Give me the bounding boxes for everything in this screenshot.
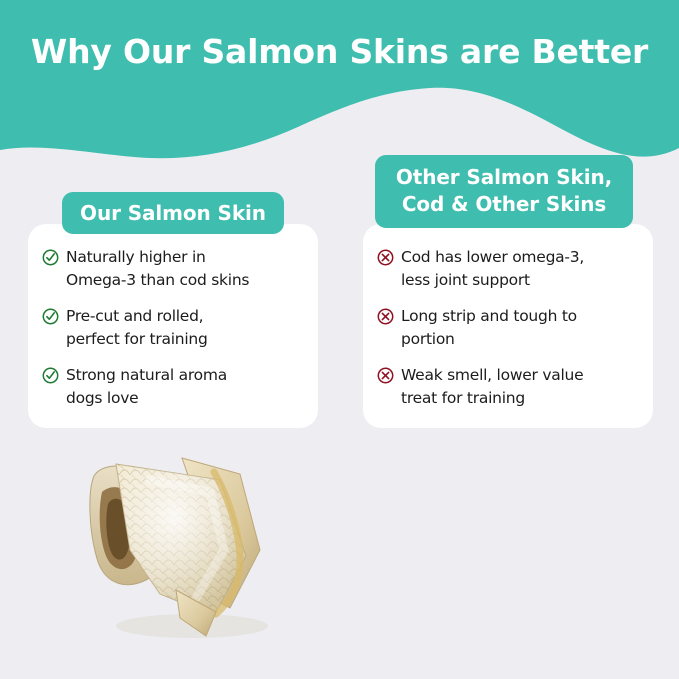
text-line: Strong natural aroma [66,366,227,384]
column-our-salmon-skin: Our Salmon Skin Naturally higher in [22,0,322,679]
text-line: perfect for training [66,330,208,348]
rolled-salmon-skin-photo [64,430,314,655]
text-line: Naturally higher in [66,248,206,266]
benefit-list-cons: Cod has lower omega-3, less joint suppor… [377,246,639,410]
badge-line: Our Salmon Skin [62,192,284,234]
check-circle-icon [42,367,59,384]
list-item: Naturally higher in Omega-3 than cod ski… [42,246,304,292]
text-line: less joint support [401,271,530,289]
list-item-text: Long strip and tough to portion [401,305,577,351]
column-other-skins: Other Salmon Skin, Cod & Other Skins Co [357,0,657,679]
cross-circle-icon [377,367,394,384]
list-item-text: Pre-cut and rolled, perfect for training [66,305,208,351]
cross-circle-icon [377,308,394,325]
comparison-infographic: Why Our Salmon Skins are Better Our Salm… [0,0,679,679]
text-line: dogs love [66,389,138,407]
card-other-skins: Cod has lower omega-3, less joint suppor… [363,224,653,428]
badge-our-salmon-skin: Our Salmon Skin [62,192,284,234]
text-line: Pre-cut and rolled, [66,307,203,325]
card-our-salmon-skin: Naturally higher in Omega-3 than cod ski… [28,224,318,428]
list-item: Strong natural aroma dogs love [42,364,304,410]
text-line: portion [401,330,455,348]
cross-circle-icon [377,249,394,266]
list-item-text: Cod has lower omega-3, less joint suppor… [401,246,584,292]
list-item-text: Strong natural aroma dogs love [66,364,227,410]
list-item: Pre-cut and rolled, perfect for training [42,305,304,351]
list-item: Long strip and tough to portion [377,305,639,351]
list-item: Weak smell, lower value treat for traini… [377,364,639,410]
badge-line: Cod & Other Skins [375,191,633,218]
benefit-list-pros: Naturally higher in Omega-3 than cod ski… [42,246,304,410]
text-line: Weak smell, lower value [401,366,583,384]
check-circle-icon [42,249,59,266]
text-line: Cod has lower omega-3, [401,248,584,266]
comparison-columns: Our Salmon Skin Naturally higher in [0,0,679,679]
list-item-text: Naturally higher in Omega-3 than cod ski… [66,246,249,292]
text-line: Omega-3 than cod skins [66,271,249,289]
list-item: Cod has lower omega-3, less joint suppor… [377,246,639,292]
text-line: Long strip and tough to [401,307,577,325]
list-item-text: Weak smell, lower value treat for traini… [401,364,583,410]
text-line: treat for training [401,389,525,407]
check-circle-icon [42,308,59,325]
badge-other-skins: Other Salmon Skin, Cod & Other Skins [375,155,633,228]
badge-line: Other Salmon Skin, [375,164,633,191]
